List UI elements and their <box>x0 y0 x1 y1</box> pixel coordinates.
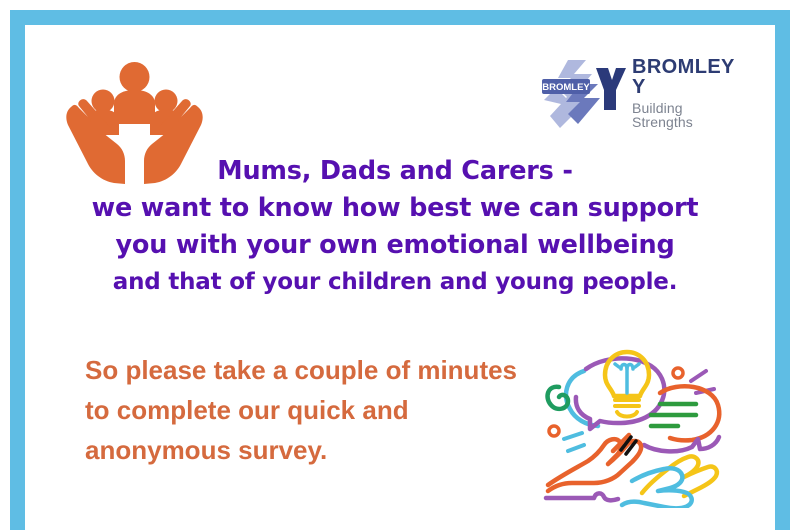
logo-text: BROMLEY Y Building Strengths <box>632 57 745 129</box>
bromley-y-logo: BROMLEY BROMLEY Y Building Strengths <box>540 53 745 133</box>
headline-line-1: Mums, Dads and Carers - <box>75 153 715 190</box>
cta-line-1: So please take a couple of minutes <box>85 350 545 390</box>
poster: BROMLEY BROMLEY Y Building Strengths Mum… <box>0 0 798 514</box>
bromley-y-logo-mark: BROMLEY <box>540 54 626 132</box>
headline-line-4: and that of your children and young peop… <box>75 264 715 301</box>
headline-line-3: you with your own emotional wellbeing <box>75 227 715 264</box>
lightbulb-speech-bubbles-hands-illustration <box>526 333 741 508</box>
cta-line-3: anonymous survey. <box>85 430 545 470</box>
logo-mark-label: BROMLEY <box>542 82 590 93</box>
poster-content: BROMLEY BROMLEY Y Building Strengths Mum… <box>25 25 773 514</box>
cta-line-2: to complete our quick and <box>85 390 545 430</box>
logo-tagline: Building Strengths <box>632 101 745 129</box>
call-to-action-text: So please take a couple of minutes to co… <box>85 350 545 470</box>
logo-name: BROMLEY Y <box>632 57 745 97</box>
headline-line-2: we want to know how best we can support <box>75 190 715 227</box>
headline: Mums, Dads and Carers - we want to know … <box>75 153 715 301</box>
